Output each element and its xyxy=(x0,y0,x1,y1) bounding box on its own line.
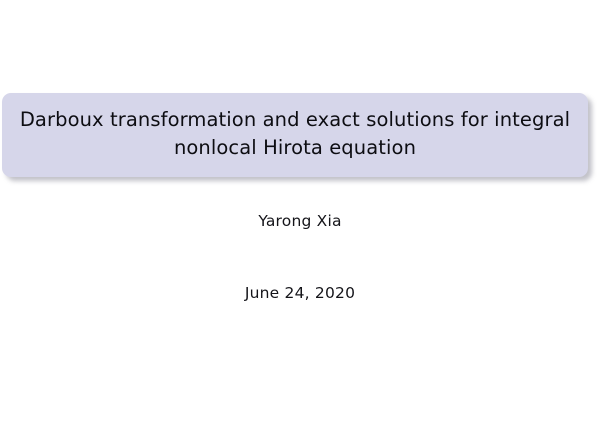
slide-title-line-1: Darboux transformation and exact solutio… xyxy=(20,108,570,131)
presentation-date: June 24, 2020 xyxy=(0,284,600,302)
presentation-title-slide: Darboux transformation and exact solutio… xyxy=(0,0,600,423)
slide-body-area xyxy=(0,320,600,423)
author-name: Yarong Xia xyxy=(0,212,600,230)
title-block: Darboux transformation and exact solutio… xyxy=(2,93,588,177)
slide-title: Darboux transformation and exact solutio… xyxy=(15,106,575,161)
slide-title-line-2: nonlocal Hirota equation xyxy=(174,136,416,159)
